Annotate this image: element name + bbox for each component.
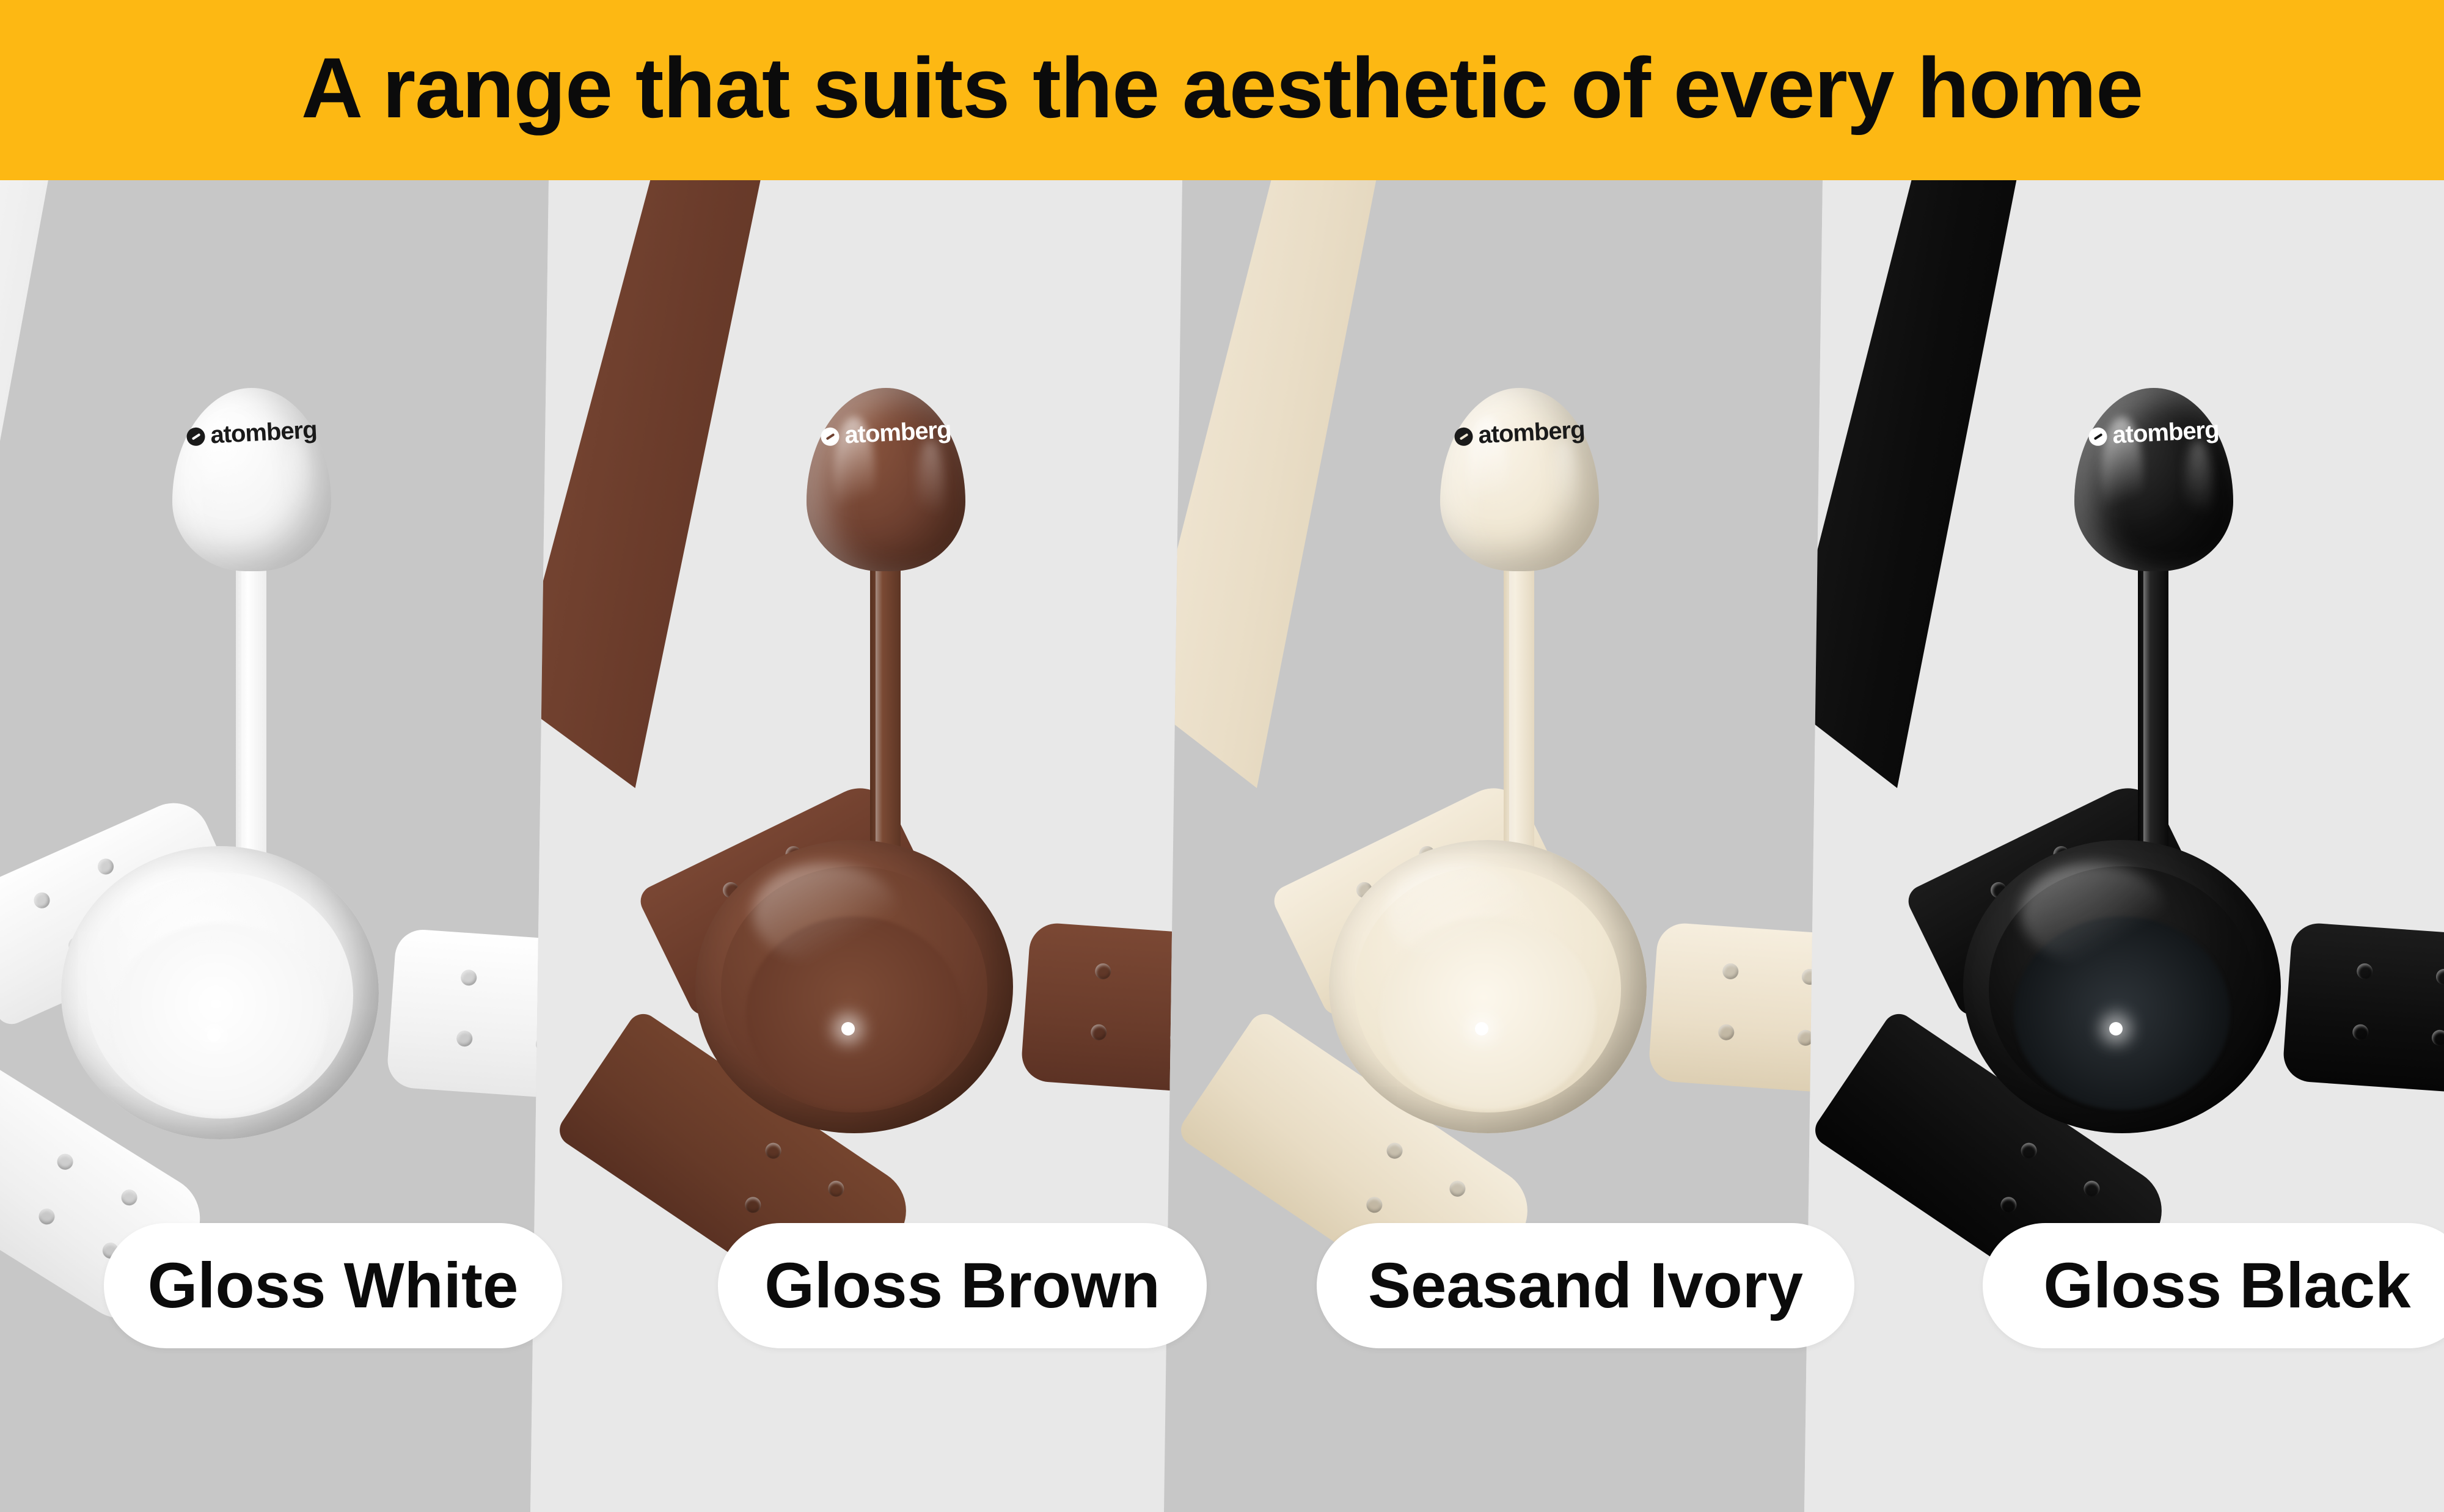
variant-label-gloss-brown[interactable]: Gloss Brown [718, 1223, 1207, 1348]
motor-sheen [2021, 863, 2167, 963]
fan-downrod [1504, 522, 1534, 864]
downrod-highlight [876, 522, 882, 864]
fan-motor-housing [695, 840, 1013, 1133]
fan-motor-housing [1329, 840, 1647, 1133]
fan-motor-housing [61, 846, 379, 1139]
atomberg-circle-icon [1454, 427, 1474, 447]
canopy-gloss-secondary [918, 439, 943, 535]
motor-specular-highlight [2109, 1022, 2123, 1035]
motor-sheen [753, 863, 899, 963]
brand-logo-text: atomberg [844, 416, 951, 449]
variant-label-text: Gloss Black [2043, 1249, 2410, 1323]
canopy-gloss-secondary [1551, 439, 1577, 535]
page-title: A range that suits the aesthetic of ever… [301, 45, 2143, 131]
brand-logo-text: atomberg [1477, 416, 1585, 449]
variant-label-text: Seasand Ivory [1368, 1249, 1803, 1323]
atomberg-circle-icon [821, 427, 840, 447]
variant-label-gloss-white[interactable]: Gloss White [104, 1223, 562, 1348]
downrod-highlight [2143, 522, 2150, 864]
motor-specular-highlight [1475, 1022, 1488, 1035]
downrod-highlight [241, 522, 248, 864]
downrod-highlight [1509, 522, 1516, 864]
canopy-gloss-secondary [284, 439, 309, 535]
banner-header: A range that suits the aesthetic of ever… [0, 0, 2444, 180]
fan-motor-housing [1963, 840, 2281, 1133]
motor-specular-highlight [207, 1028, 221, 1042]
variant-label-gloss-black[interactable]: Gloss Black [1983, 1223, 2444, 1348]
variant-label-seasand-ivory[interactable]: Seasand Ivory [1317, 1223, 1854, 1348]
fan-blade-right [2282, 922, 2444, 1101]
motor-sheen [119, 869, 265, 969]
variant-label-text: Gloss Brown [764, 1249, 1160, 1323]
atomberg-circle-icon [2088, 427, 2108, 447]
blade-surface [2282, 922, 2444, 1101]
motor-sheen [1386, 863, 1532, 963]
fan-downrod [2138, 522, 2168, 864]
brand-logo-text: atomberg [2112, 416, 2219, 449]
atomberg-circle-icon [186, 427, 206, 447]
fan-downrod [236, 522, 266, 864]
fan-downrod [870, 522, 901, 864]
promo-banner: A range that suits the aesthetic of ever… [0, 0, 2444, 1512]
motor-specular-highlight [841, 1022, 855, 1035]
variant-label-text: Gloss White [148, 1249, 519, 1323]
brand-logo-text: atomberg [210, 416, 317, 449]
canopy-gloss-secondary [2186, 439, 2211, 535]
